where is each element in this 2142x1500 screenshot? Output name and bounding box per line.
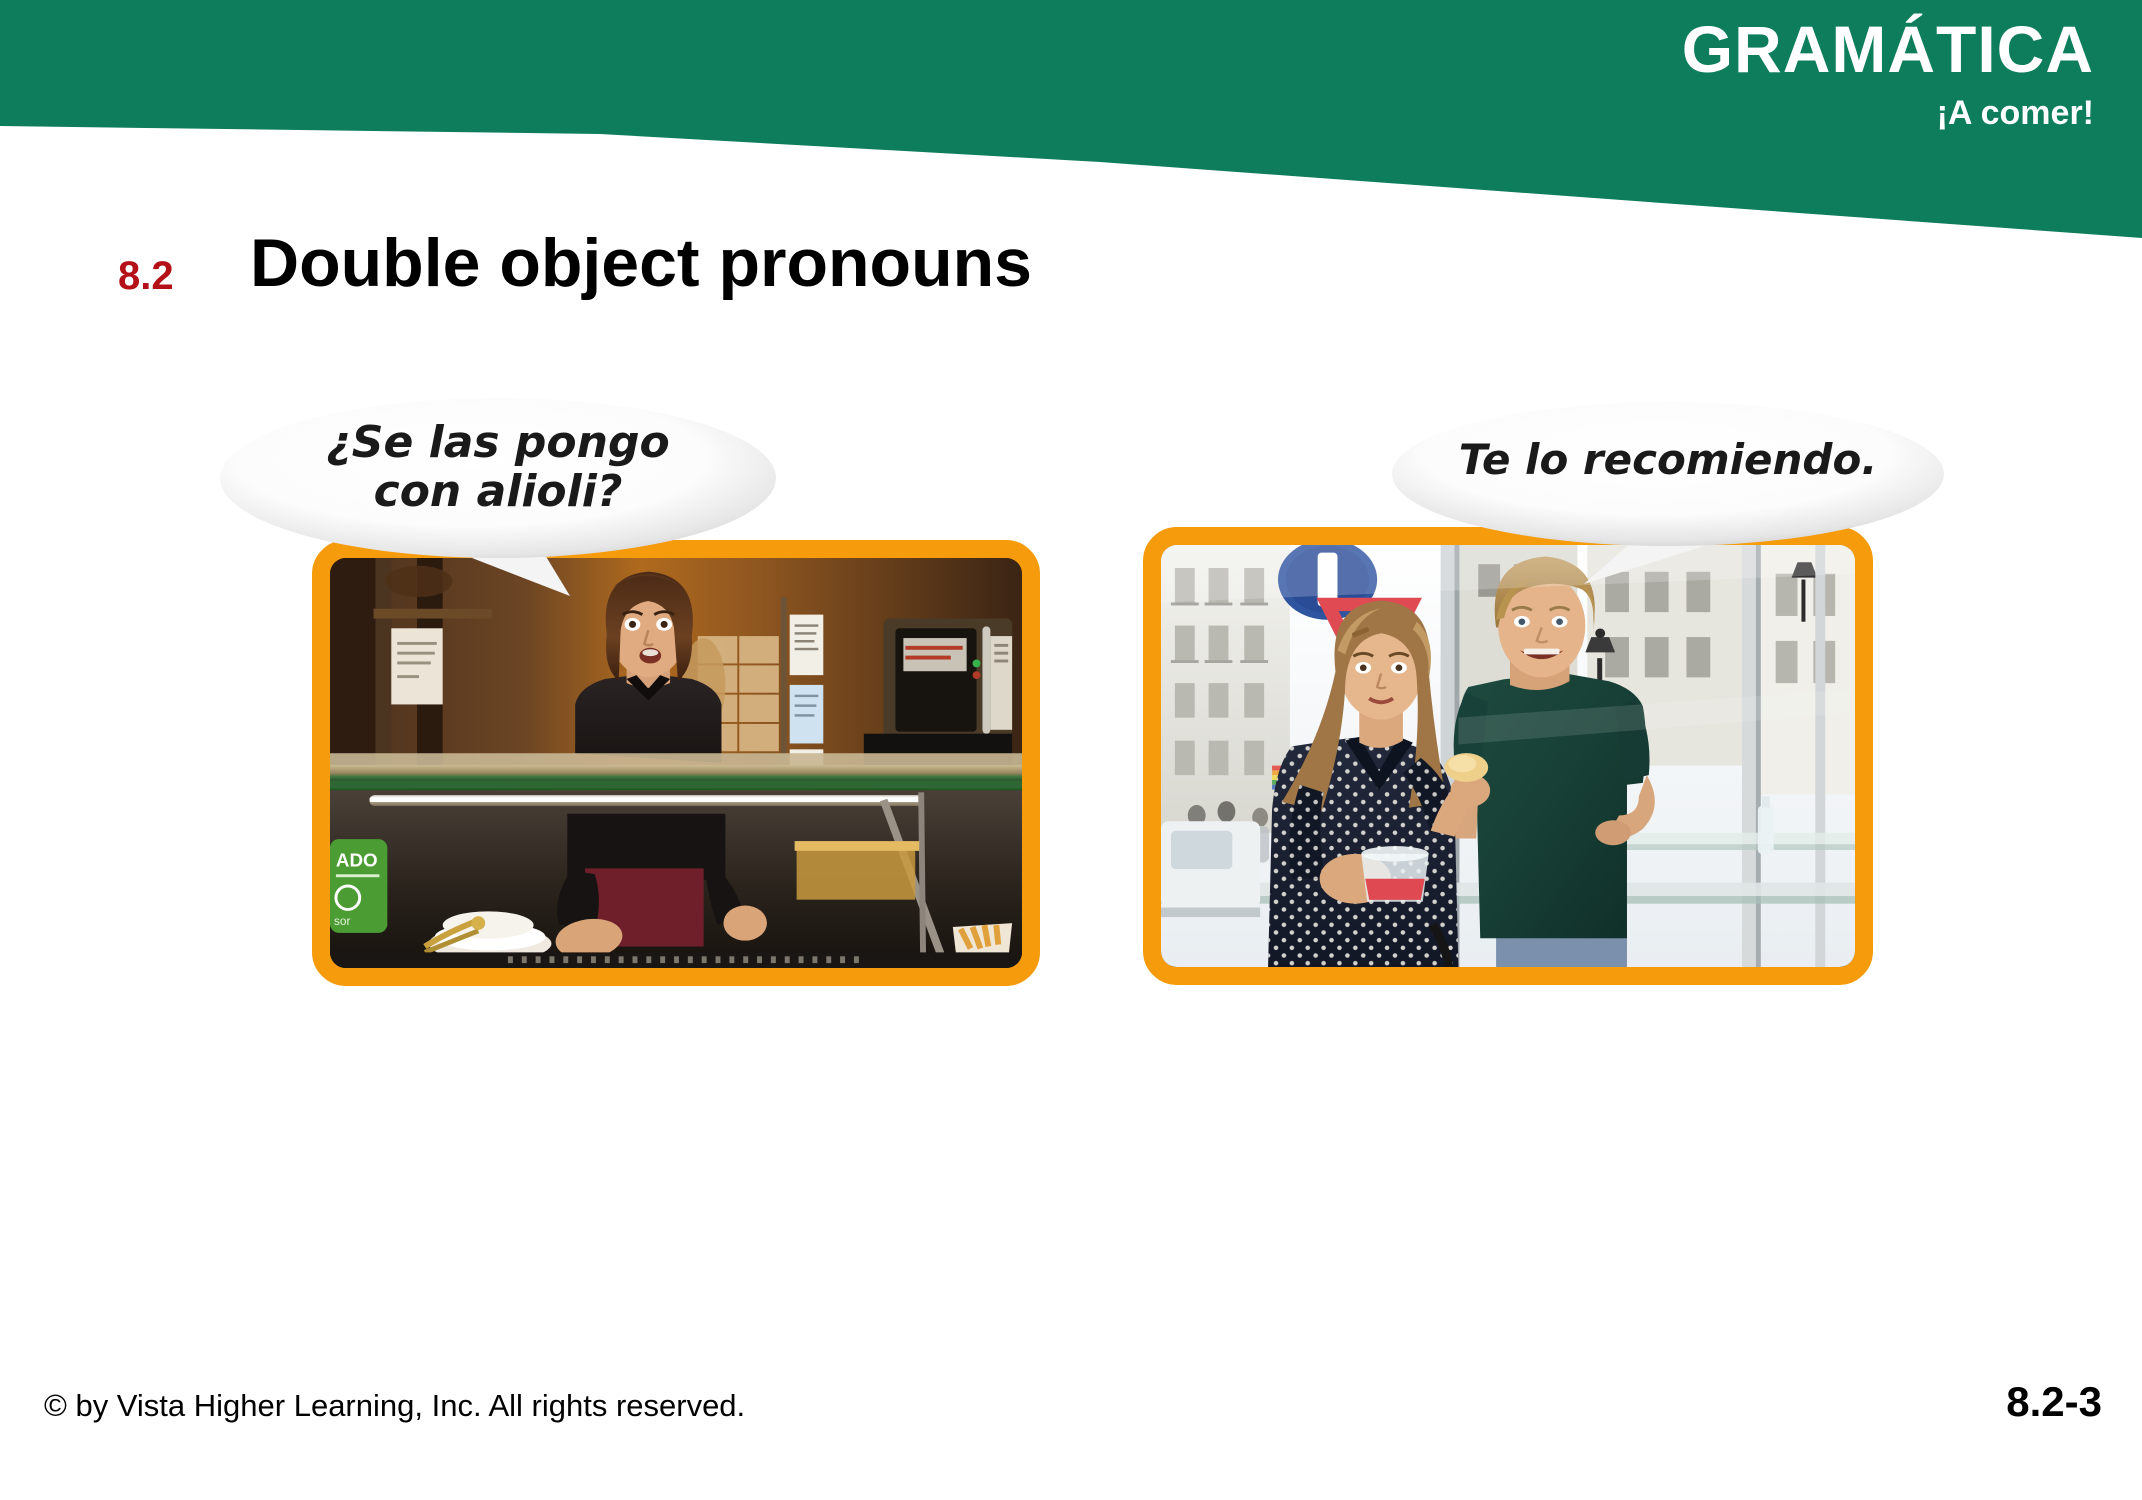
- section-number: 8.2: [118, 256, 174, 296]
- speech-bubble-right-shape: [1388, 398, 1948, 588]
- speech-bubble-left-shape: [218, 390, 778, 600]
- photo-tapas-counter-server-image: ADO sor: [330, 558, 1022, 968]
- slide-title-row: 8.2 Double object pronouns: [0, 228, 1400, 318]
- page-title: Double object pronouns: [250, 228, 1032, 299]
- speech-bubble-right: Te lo recomiendo.: [1388, 398, 1948, 548]
- svg-text:ADO: ADO: [336, 850, 378, 871]
- photo-street-couple-eating: [1143, 527, 1873, 985]
- footer-copyright: © by Vista Higher Learning, Inc. All rig…: [44, 1388, 745, 1424]
- header-title: GRAMÁTICA: [1682, 16, 2094, 82]
- photo-street-couple-eating-image: [1161, 545, 1855, 967]
- footer-page-number: 8.2-3: [2006, 1378, 2102, 1426]
- header-subtitle: ¡A comer!: [1937, 96, 2094, 130]
- svg-text:sor: sor: [334, 915, 351, 928]
- speech-bubble-left: ¿Se las pongo con alioli?: [218, 390, 778, 560]
- photo-tapas-counter-server: ADO sor: [312, 540, 1040, 986]
